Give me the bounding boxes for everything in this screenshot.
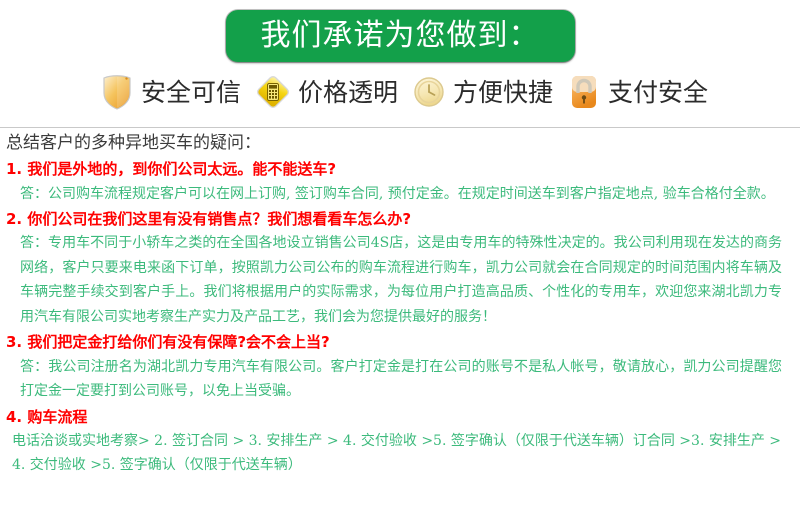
faq-item-3: 3. 我们把定金打给你们有没有保障?会不会上当? 答：我公司注册名为湖北凯力专用…	[6, 331, 782, 403]
faq-title: 总结客户的多种异地买车的疑问：	[6, 133, 782, 154]
faq-section: 总结客户的多种异地买车的疑问： 1. 我们是外地的，到你们公司太远。能不能送车?…	[0, 128, 788, 478]
faq-question-2: 2. 你们公司在我们这里有没有销售点？我们想看看车怎么办?	[6, 208, 782, 231]
clock-icon	[412, 73, 446, 111]
features-row: 安全可信	[0, 63, 800, 121]
feature-item-convenience: 方便快捷	[412, 73, 553, 111]
lock-icon	[567, 73, 601, 111]
faq-answer-3: 答：我公司注册名为湖北凯力专用汽车有限公司。客户打定金是打在公司的账号不是私人帐…	[6, 355, 782, 404]
faq-question-3: 3. 我们把定金打给你们有没有保障?会不会上当?	[6, 331, 782, 354]
promo-banner: 我们承诺为您做到：	[226, 10, 575, 62]
promo-banner-row: 我们承诺为您做到：	[0, 9, 800, 63]
promo-banner-text: 我们承诺为您做到：	[261, 21, 540, 51]
promo-header: 我们承诺为您做到： 安全可	[0, 0, 800, 121]
feature-item-payment: 支付安全	[567, 73, 708, 111]
feature-label-convenience: 方便快捷	[453, 80, 553, 105]
purchase-process-steps: 电话洽谈或实地考察> 2. 签订合同 > 3. 安排生产 > 4. 交付验收 >…	[6, 429, 782, 478]
faq-question-1: 1. 我们是外地的，到你们公司太远。能不能送车?	[6, 158, 782, 181]
feature-label-security: 安全可信	[141, 80, 241, 105]
faq-answer-2: 答：专用车不同于小轿车之类的在全国各地设立销售公司4S店，这是由专用车的特殊性决…	[6, 231, 782, 329]
faq-item-2: 2. 你们公司在我们这里有没有销售点？我们想看看车怎么办? 答：专用车不同于小轿…	[6, 208, 782, 329]
feature-label-payment: 支付安全	[608, 80, 708, 105]
shield-icon	[100, 73, 134, 111]
feature-label-price: 价格透明	[298, 80, 398, 105]
faq-item-1: 1. 我们是外地的，到你们公司太远。能不能送车? 答：公司购车流程规定客户可以在…	[6, 158, 782, 206]
feature-item-price: 价格透明	[255, 73, 398, 111]
calculator-icon	[255, 73, 291, 111]
feature-item-security: 安全可信	[100, 73, 241, 111]
purchase-process-block: 4. 购车流程 电话洽谈或实地考察> 2. 签订合同 > 3. 安排生产 > 4…	[6, 406, 782, 478]
faq-answer-1: 答：公司购车流程规定客户可以在网上订购, 签订购车合同, 预付定金。在规定时间送…	[6, 182, 782, 207]
purchase-process-heading: 4. 购车流程	[6, 406, 782, 429]
